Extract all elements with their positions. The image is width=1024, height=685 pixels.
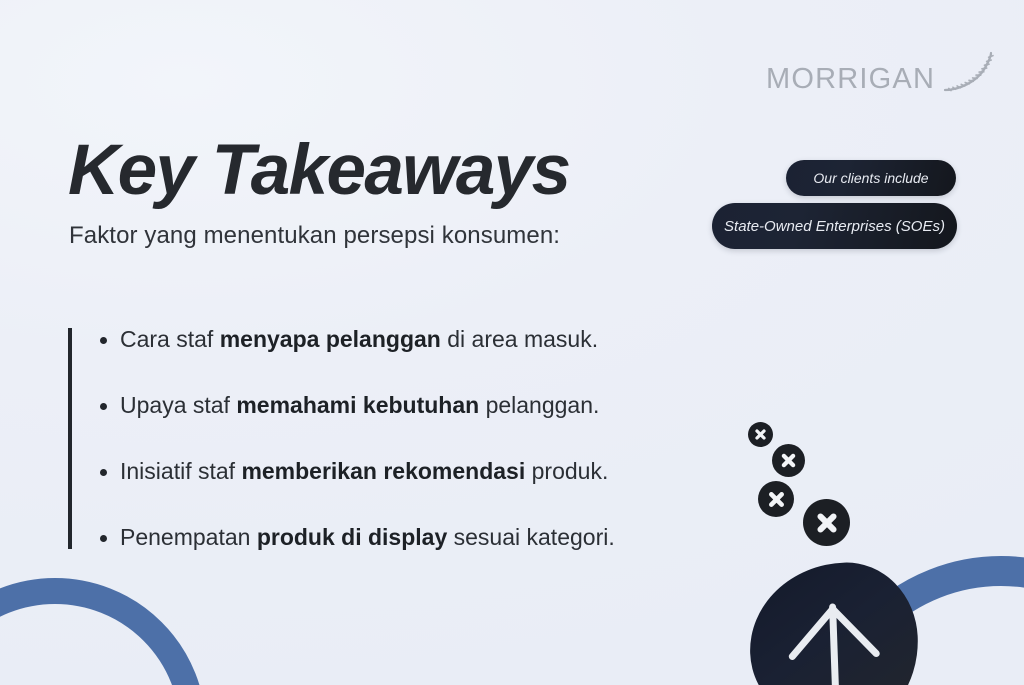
list-item-text-after: pelanggan.: [479, 392, 599, 418]
list-item-text-before: Penempatan: [120, 524, 257, 550]
bullet-dot-icon: [100, 403, 107, 410]
list-item: Inisiatif staf memberikan rekomendasi pr…: [100, 460, 740, 483]
up-arrow-icon: [778, 591, 890, 685]
list-item: Penempatan produk di display sesuai kate…: [100, 526, 740, 549]
brand-logo: MORRIGAN: [766, 50, 997, 109]
page-title: Key Takeaways: [68, 134, 570, 209]
fern-swoosh-icon: [941, 50, 997, 103]
badge-state-owned-enterprises: State-Owned Enterprises (SOEs): [712, 203, 957, 249]
page-subtitle: Faktor yang menentukan persepsi konsumen…: [69, 222, 560, 250]
list-item-text-bold: memberikan rekomendasi: [241, 458, 525, 484]
bullet-dot-icon: [100, 469, 107, 476]
list-item: Upaya staf memahami kebutuhan pelanggan.: [100, 394, 740, 417]
up-arrow-badge: [747, 560, 921, 685]
decorative-arc-bottom-left: [0, 578, 206, 685]
x-mark-icon: [772, 444, 805, 477]
x-mark-icon: [758, 481, 794, 517]
slide-canvas: MORRIGAN: [0, 0, 1024, 685]
x-mark-icon: [803, 499, 850, 546]
list-item-text-after: produk.: [525, 458, 608, 484]
x-mark-icon: [748, 422, 773, 447]
list-item-text-before: Upaya staf: [120, 392, 236, 418]
bullet-dot-icon: [100, 535, 107, 542]
brand-wordmark: MORRIGAN: [766, 65, 935, 94]
list-item-text-before: Cara staf: [120, 326, 220, 352]
list-item-text-bold: produk di display: [257, 524, 447, 550]
list-item-text-bold: menyapa pelanggan: [220, 326, 441, 352]
bullet-dot-icon: [100, 337, 107, 344]
list-item-text-after: di area masuk.: [441, 326, 598, 352]
list-item: Cara staf menyapa pelanggan di area masu…: [100, 328, 740, 351]
badge-our-clients-include: Our clients include: [786, 160, 956, 196]
list-item-text-bold: memahami kebutuhan: [236, 392, 479, 418]
list-item-text-after: sesuai kategori.: [447, 524, 614, 550]
list-item-text-before: Inisiatif staf: [120, 458, 241, 484]
takeaways-list: Cara staf menyapa pelanggan di area masu…: [68, 328, 740, 549]
